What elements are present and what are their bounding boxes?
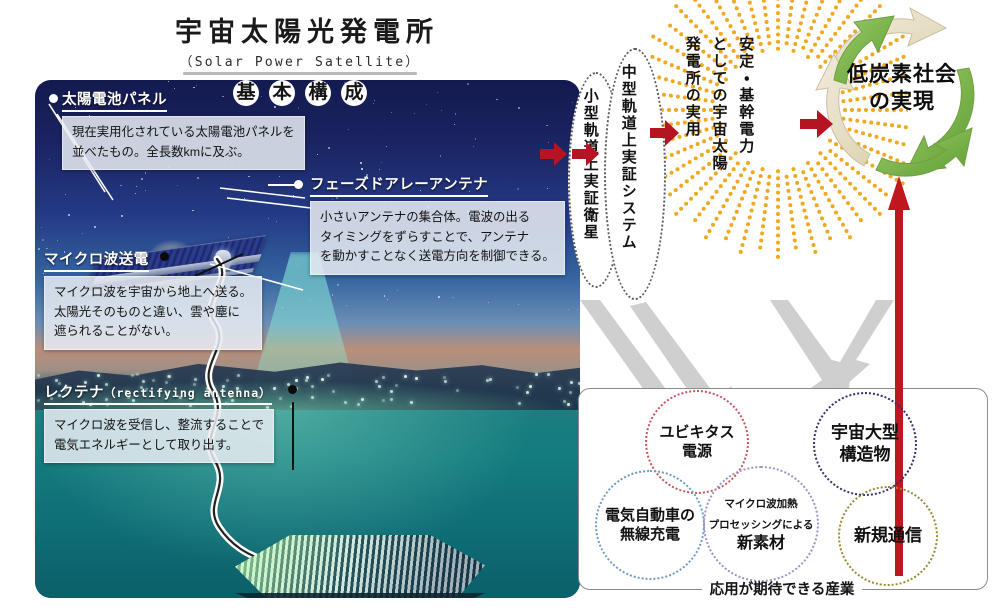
- callout-heading: マイクロ波送電: [44, 248, 149, 272]
- page-title: 宇宙太陽光発電所 （Solar Power Satellite） 基本構成: [175, 18, 425, 110]
- title-char-3: 成: [341, 80, 367, 106]
- title-char-0: 基: [233, 80, 259, 106]
- industry-circle-large-space-structures[interactable]: 宇宙大型 構造物: [813, 392, 917, 496]
- goal-column: としての宇宙太陽: [709, 36, 728, 172]
- callout-rectenna: レクテナ（rectifying antenna） マイクロ波を受信し、整流するこ…: [44, 381, 274, 463]
- callout-heading-roman: （rectifying antenna）: [104, 386, 272, 400]
- callout-line: マイクロ波を受信し、整流することで: [54, 416, 264, 436]
- industry-label: 新規通信: [854, 525, 922, 547]
- callout-heading: フェーズドアレーアンテナ: [310, 173, 488, 197]
- roadmap-stage-label: 中型軌道上実証システム: [618, 64, 637, 251]
- callout-line: を動かすことなく送電方向を制御できる。: [320, 247, 555, 267]
- callout-line: マイクロ波を宇宙から地上へ送る。: [54, 283, 252, 303]
- industry-line: プロセッシングによる: [709, 519, 814, 531]
- callout-line: 現在実用化されている太陽電池パネルを: [72, 123, 295, 143]
- callout-body: マイクロ波を宇宙から地上へ送る。 太陽光そのものと違い、雲や塵に 遮られることが…: [44, 276, 262, 350]
- callout-microwave-transmission: マイクロ波送電 マイクロ波を宇宙から地上へ送る。 太陽光そのものと違い、雲や塵に…: [44, 248, 262, 350]
- callout-marker-rectenna: [288, 385, 297, 394]
- title-sub: （Solar Power Satellite）: [175, 51, 425, 70]
- low-carbon-line1: 低炭素社会: [824, 62, 980, 89]
- callout-line: 太陽光そのものと違い、雲や塵に: [54, 303, 252, 323]
- industry-line: 新素材: [737, 535, 785, 552]
- title-subheading: 基本構成: [175, 80, 425, 110]
- title-char-2: 構: [305, 80, 331, 106]
- red-arrow-icon: [800, 108, 834, 142]
- infographic-root: 宇宙太陽光発電所 （Solar Power Satellite） 基本構成: [0, 0, 1000, 614]
- callout-marker-antenna: [294, 180, 303, 189]
- callout-line: タイミングをずらすことで、アンテナ: [320, 228, 555, 248]
- roadmap-stage-medium-system: 中型軌道上実証システム: [618, 64, 637, 251]
- goal-column: 安定・基幹電力: [736, 36, 755, 172]
- callout-line: 並べたもの。全長数kmに及ぶ。: [72, 143, 295, 163]
- low-carbon-label: 低炭素社会 の実現: [824, 62, 980, 116]
- red-arrow-icon: [650, 118, 680, 150]
- title-main: 宇宙太陽光発電所: [175, 18, 425, 48]
- industry-label: 電気自動車の 無線充電: [605, 506, 695, 545]
- callout-line: 小さいアンテナの集合体。電波の出る: [320, 208, 555, 228]
- industry-circle-microwave-heating-new-materials[interactable]: マイクロ波加熱 プロセッシングによる 新素材: [703, 466, 819, 582]
- industries-caption: 応用が期待できる産業: [578, 578, 986, 599]
- industries-caption-text: 応用が期待できる産業: [702, 582, 863, 598]
- low-carbon-line2: の実現: [824, 89, 980, 116]
- industry-label: マイクロ波加熱 プロセッシングによる 新素材: [709, 493, 814, 555]
- callout-line: 電気エネルギーとして取り出す。: [54, 436, 264, 456]
- callout-line: 遮られることがない。: [54, 322, 252, 342]
- goal-column: 発電所の実用: [682, 36, 701, 172]
- industry-line: 宇宙大型: [831, 423, 899, 442]
- industry-line: 電気自動車の: [605, 507, 695, 524]
- roadmap-goal-text: 発電所の実用 としての宇宙太陽 安定・基幹電力: [682, 36, 754, 172]
- title-divider: [183, 72, 417, 75]
- callout-body: マイクロ波を受信し、整流することで 電気エネルギーとして取り出す。: [44, 409, 274, 463]
- industry-line: 構造物: [840, 445, 891, 464]
- callout-marker-solar-panel: [49, 94, 58, 103]
- low-carbon-society-cycle: 低炭素社会 の実現: [806, 6, 996, 186]
- industry-line: マイクロ波加熱: [724, 498, 797, 510]
- industry-line: ユビキタス: [659, 424, 734, 441]
- industry-line: 電源: [682, 443, 712, 460]
- red-arrow-icon: [572, 140, 600, 170]
- industry-circle-ev-wireless-charging[interactable]: 電気自動車の 無線充電: [595, 470, 705, 580]
- callout-body: 小さいアンテナの集合体。電波の出る タイミングをずらすことで、アンテナ を動かす…: [310, 201, 565, 275]
- industry-label: 宇宙大型 構造物: [831, 422, 899, 466]
- callout-body: 現在実用化されている太陽電池パネルを 並べたもの。全長数kmに及ぶ。: [62, 116, 305, 170]
- callout-heading: 太陽電池パネル: [62, 88, 167, 112]
- callout-marker-microwave: [160, 252, 169, 261]
- industry-line: 新規通信: [854, 526, 922, 545]
- callout-phased-array-antenna: フェーズドアレーアンテナ 小さいアンテナの集合体。電波の出る タイミングをずらす…: [310, 173, 565, 275]
- callout-heading-text: レクテナ: [44, 385, 104, 401]
- industry-label: ユビキタス 電源: [659, 423, 734, 462]
- title-char-1: 本: [269, 80, 295, 106]
- callout-heading: レクテナ（rectifying antenna）: [44, 381, 272, 405]
- industry-line: 無線充電: [620, 526, 680, 543]
- industry-circle-new-communications[interactable]: 新規通信: [838, 486, 938, 586]
- red-arrow-icon: [540, 140, 568, 170]
